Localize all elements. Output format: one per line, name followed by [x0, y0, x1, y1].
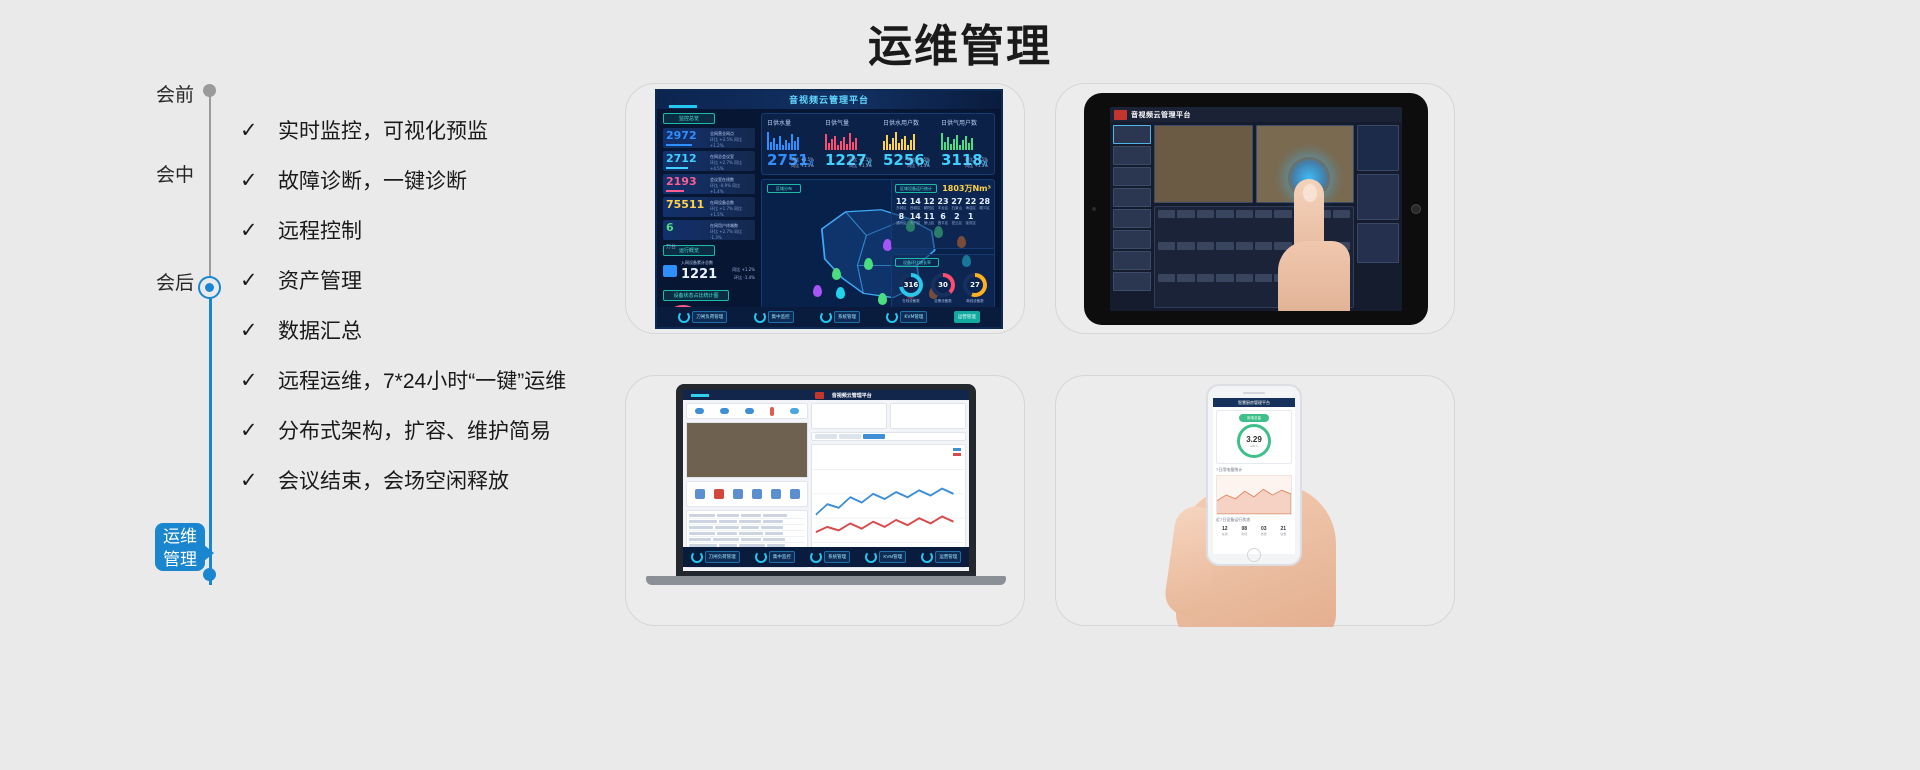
tab-bar[interactable] [811, 432, 966, 441]
thermometer-icon [770, 407, 774, 416]
region-cell: 28顺义区 [978, 197, 991, 211]
phone-stat-cell: 08离线 [1236, 526, 1254, 536]
timeline-line-upper [209, 90, 211, 285]
laptop-lid: 音视频云管理平台 [676, 384, 976, 580]
cloud-icon [720, 408, 729, 414]
phone-stat-grid: 12在线 08离线 03告警 21总数 [1213, 523, 1295, 539]
side-control-block[interactable] [1357, 174, 1399, 220]
phone-app-title: 智慧厨房管理平台 [1213, 398, 1295, 407]
ring-icon [921, 551, 933, 563]
dashboard-left-column: 监控总览 2972 万 全网营业网点 环比 +3.5% 同比 +1.2% 271… [663, 113, 755, 329]
slide-root: 运维管理 会前 会中 会后 运维 管理 ✓ 实时监控，可视化预监 ✓ 故障诊断，… [0, 0, 1920, 770]
status-badge: 用电总量 [1239, 414, 1269, 422]
brand-logo-icon [815, 392, 824, 399]
timeline-line-lower [209, 285, 212, 585]
stat-sub: 环比 +3.5% 同比 +1.2% [710, 137, 752, 149]
palm-graphic [1278, 241, 1350, 311]
gauge-ring: 27 [963, 273, 987, 297]
tablet-side-panel [1357, 125, 1399, 308]
stat-unit: 万台 [666, 244, 676, 250]
kpi-label: 日供水量 [767, 118, 815, 127]
video-tile[interactable] [1154, 125, 1253, 203]
region-stat-total: 1803万Nm³ [942, 183, 991, 194]
laptop-app-bar: 音视频云管理平台 [683, 390, 969, 400]
footer-nav-item[interactable]: 刀闸负荷管理 [678, 311, 727, 323]
list-item[interactable] [1113, 125, 1151, 144]
dashboard-title: 音视频云管理平台 [657, 93, 1001, 106]
kpi-deltas: 环比 +2.5%同比 +1.5% [907, 157, 930, 169]
brand-logo-icon [1114, 110, 1127, 120]
timeline-marker-active[interactable] [198, 276, 221, 299]
kpi-card: 日供水用户数 5256万户 环比 +2.5%同比 +1.5% [878, 114, 936, 174]
mic-icon[interactable] [752, 489, 762, 499]
kpi-deltas: 环比 +2.5%同比 +1.5% [849, 157, 872, 169]
list-item-label: 实时监控，可视化预监 [278, 115, 488, 145]
laptop-left-column [686, 403, 808, 568]
area-chart-svg [1217, 476, 1291, 514]
phone-area-chart [1216, 475, 1292, 515]
map-preview[interactable] [1357, 125, 1399, 171]
tab-device-inspection[interactable] [839, 434, 861, 439]
map-pin[interactable] [813, 285, 822, 297]
list-item[interactable] [1113, 146, 1151, 165]
footer-nav-item-active[interactable]: 运营管理 [954, 311, 980, 323]
home-button[interactable] [1411, 204, 1421, 214]
feature-checklist: ✓ 实时监控，可视化预监 ✓ 故障诊断，一键诊断 ✓ 远程控制 ✓ 资产管理 ✓… [240, 105, 660, 505]
dashboard-screen: 音视频云管理平台 监控总览 2972 万 全网营业网点 环比 +3.5% 同比 … [655, 89, 1003, 329]
gauge-label: 离线设备数 [962, 299, 988, 304]
kpi-card: 日供气用户数 3118万户 环比 +2.5%同比 +1.5% [936, 114, 994, 174]
footer-nav-item[interactable]: KVM管理 [865, 551, 906, 563]
timeline-badge-ops[interactable]: 运维 管理 [155, 523, 205, 571]
laptop-footer-nav: 刀闸负荷管理 集中监控 系统管理 KVM管理 运营管理 [683, 547, 969, 567]
kpi-label: 日供水用户数 [883, 118, 931, 127]
list-item: ✓ 资产管理 [240, 255, 660, 305]
metric-unit: kW·h [1251, 444, 1258, 448]
footer-nav-item[interactable]: 刀闸负荷管理 [691, 551, 740, 563]
region-stat-pill: 区域设备运行统计 [895, 184, 937, 193]
tablet-screen: 音视频云管理平台 [1110, 107, 1402, 311]
region-stat-table: 区域设备运行统计 1803万Nm³ 12东城区 14西城区 12朝阳区 23丰台… [891, 179, 995, 249]
factory-icon [663, 265, 677, 277]
laptop-right-column [811, 403, 966, 568]
list-item-label: 数据汇总 [278, 315, 362, 345]
list-item[interactable] [1113, 230, 1151, 249]
region-cell: 23丰台区 [937, 197, 950, 211]
dashboard-accent-bar [669, 105, 697, 108]
list-item[interactable] [1113, 188, 1151, 207]
list-item-label: 远程运维，7*24小时“一键”运维 [278, 365, 566, 395]
gauge-panel-pill: 设备环比增长率 [895, 258, 939, 267]
gauge: 27 离线设备数 [962, 273, 988, 304]
ring-icon [691, 551, 703, 563]
kpi-sparkline [941, 130, 989, 150]
map-pin[interactable] [878, 293, 887, 305]
kpi-sparkline [767, 130, 815, 150]
region-cell: 8通州区 [895, 212, 908, 226]
list-item: ✓ 故障诊断，一键诊断 [240, 155, 660, 205]
timeline-dot-top [203, 84, 216, 97]
timeline-stage-before: 会前 [156, 80, 194, 107]
metric-value: 3.29 [1246, 435, 1262, 444]
quick-action-icons[interactable] [686, 481, 808, 507]
tablet-body [1110, 122, 1402, 311]
power-icon[interactable] [790, 489, 800, 499]
gauge-row: 316 在线设备数 30 告警设备数 27 离线设备数 [895, 273, 991, 304]
kpi-card: 日供水量 2751万吨 环比 +3.5%同比 +1.5% [762, 114, 820, 174]
camera-icon [1092, 207, 1096, 211]
dashboard-footer-nav: 刀闸负荷管理 集中监控 系统管理 KVM管理 运营管理 [657, 307, 1001, 327]
laptop-app-title: 音视频云管理平台 [832, 392, 872, 399]
kpi-label: 日供气量 [825, 118, 873, 127]
sub-stat-value: 1221 [681, 267, 717, 282]
venue-thumbnail-list[interactable] [1113, 125, 1151, 308]
sub-stat-name: 入网设备累计总数 [681, 260, 713, 266]
cloud-icon [695, 408, 704, 414]
device-card-laptop: 音视频云管理平台 [625, 375, 1025, 626]
stat-sub: 环比 +2.7% 同比 -1.3% [710, 229, 752, 241]
kpi-sparkline [825, 130, 873, 150]
laptop-base [646, 576, 1006, 585]
region-cell: 11房山区 [923, 212, 936, 226]
region-cell: 12东城区 [895, 197, 908, 211]
phone-metric-card: 用电总量 3.29 kW·h [1216, 410, 1292, 464]
list-item: ✓ 实时监控，可视化预监 [240, 105, 660, 155]
tablet-app-bar: 音视频云管理平台 [1110, 107, 1402, 122]
map-pill-label: 区域分布 [767, 184, 801, 193]
ring-icon [810, 551, 822, 563]
ring-icon [754, 311, 766, 323]
summary-card-row [811, 403, 966, 429]
device-card-phone: 智慧厨房管理平台 用电总量 3.29 kW·h 7日用电量统计 [1055, 375, 1455, 626]
gauge-ring: 316 [899, 273, 923, 297]
tab-data-statistics[interactable] [863, 434, 885, 439]
search-icon[interactable] [695, 489, 705, 499]
list-item-label: 会议结束，会场空闲释放 [278, 465, 509, 495]
kpi-row: 日供水量 2751万吨 环比 +3.5%同比 +1.5% 日供气量 1227万方 [761, 113, 995, 175]
gauge-value: 30 [935, 277, 951, 293]
page-title: 运维管理 [0, 10, 1920, 74]
map-pin[interactable] [832, 268, 841, 280]
stat-card: 2193 万 会议室在线数 环比 -0.9% 同比 +1.4% [663, 174, 755, 194]
kpi-label: 日供气用户数 [941, 118, 989, 127]
hand-pointing-graphic [1278, 179, 1350, 311]
phone-stat-cell: 12在线 [1216, 526, 1234, 536]
stat-card: 2972 万 全网营业网点 环比 +3.5% 同比 +1.2% [663, 128, 755, 148]
home-button[interactable] [1247, 548, 1261, 562]
ring-icon [820, 311, 832, 323]
region-cell: 2密云区 [950, 212, 963, 226]
legend-swatch-series-2 [953, 453, 961, 456]
summary-card [811, 403, 887, 429]
region-cell: 27石景山 [950, 197, 963, 211]
gauge-label: 在线设备数 [898, 299, 924, 304]
record-icon[interactable] [714, 489, 724, 499]
stat-sub: 环比 +2.7% 同比 +4.5% [710, 160, 752, 172]
timeline-badge-line1: 运维 [155, 525, 205, 548]
list-item[interactable] [1113, 272, 1151, 291]
stat-sub: 环比 +1.7% 同比 +1.5% [710, 206, 752, 218]
metric-ring: 3.29 kW·h [1237, 424, 1271, 458]
list-item-label: 分布式架构，扩容、维护简易 [278, 415, 551, 445]
footer-nav-item[interactable]: 系统管理 [820, 311, 860, 323]
laptop-screen: 音视频云管理平台 [683, 390, 969, 571]
accent-bar [691, 394, 709, 397]
phone-frame: 智慧厨房管理平台 用电总量 3.29 kW·h 7日用电量统计 [1206, 384, 1302, 566]
section-pill-overview: 监控总览 [663, 113, 715, 124]
list-item: ✓ 远程控制 [240, 205, 660, 255]
timeline-badge-line2: 管理 [155, 548, 205, 571]
region-cell: 12朝阳区 [923, 197, 936, 211]
kpi-deltas: 环比 +2.5%同比 +1.5% [965, 157, 988, 169]
list-item[interactable] [1113, 251, 1151, 270]
fingernail-graphic [1303, 184, 1317, 202]
device-card-tablet: 音视频云管理平台 [1055, 83, 1455, 334]
stat-card: 2712 万 在网总会议室 环比 +2.7% 同比 +4.5% [663, 151, 755, 171]
list-item: ✓ 会议结束，会场空闲释放 [240, 455, 660, 505]
cloud-icon [745, 408, 754, 414]
phone-section-label: 7日用电量统计 [1213, 467, 1295, 473]
region-cell: 14大兴区 [909, 212, 922, 226]
map-pin[interactable] [864, 258, 873, 270]
weather-strip [686, 403, 808, 419]
kpi-deltas: 环比 +3.5%同比 +1.5% [791, 157, 814, 169]
legend-swatch-series-1 [953, 448, 961, 451]
footer-nav-item[interactable]: 运营管理 [921, 551, 961, 563]
region-stat-header: 区域设备运行统计 1803万Nm³ [895, 183, 991, 194]
speaker-icon [1243, 392, 1265, 394]
laptop-frame: 音视频云管理平台 [646, 384, 1006, 619]
gauge-value: 27 [967, 277, 983, 293]
gauge-ring: 30 [931, 273, 955, 297]
kpi-card: 日供气量 1227万方 环比 +2.5%同比 +1.5% [820, 114, 878, 174]
region-cell: 14西城区 [909, 197, 922, 211]
phone-scene: 智慧厨房管理平台 用电总量 3.29 kW·h 7日用电量统计 [1056, 376, 1456, 627]
section-pill-donut: 设备状态占比统计图 [663, 290, 729, 301]
check-icon: ✓ [240, 468, 278, 493]
camera-icon[interactable] [733, 489, 743, 499]
list-item: ✓ 数据汇总 [240, 305, 660, 355]
humidity-icon [790, 408, 799, 414]
ring-icon [865, 551, 877, 563]
region-cell: 22海淀区 [964, 197, 977, 211]
stat-sub: 环比 -0.9% 同比 +1.4% [710, 183, 752, 195]
gauge: 316 在线设备数 [898, 273, 924, 304]
list-item-label: 故障诊断，一键诊断 [278, 165, 467, 195]
footer-nav-item[interactable]: 集中监控 [755, 551, 795, 563]
gauge: 30 告警设备数 [930, 273, 956, 304]
check-icon: ✓ [240, 168, 278, 193]
dashboard-header: 音视频云管理平台 [657, 91, 1001, 109]
device-card-monitor: 音视频云管理平台 监控总览 2972 万 全网营业网点 环比 +3.5% 同比 … [625, 83, 1025, 334]
sub-stat-r2: 环比 -1.4% [734, 275, 755, 281]
list-item-label: 远程控制 [278, 215, 362, 245]
ring-icon [886, 311, 898, 323]
region-cell: 6昌平区 [937, 212, 950, 226]
region-cell: 1延庆区 [964, 212, 977, 226]
list-item[interactable] [1113, 167, 1151, 186]
timeline-stage-after: 会后 [156, 268, 194, 295]
check-icon: ✓ [240, 218, 278, 243]
list-item-label: 资产管理 [278, 265, 362, 295]
check-icon: ✓ [240, 118, 278, 143]
kpi-sparkline [883, 130, 931, 150]
stat-card: 6 万台 在网用户终端数 环比 +2.7% 同比 -1.3% [663, 220, 755, 240]
region-stat-grid: 12东城区 14西城区 12朝阳区 23丰台区 27石景山 22海淀区 28顺义… [895, 197, 991, 226]
timeline-stage-during: 会中 [156, 160, 194, 187]
check-icon: ✓ [240, 268, 278, 293]
stat-bar [666, 190, 684, 192]
ring-icon [678, 311, 690, 323]
side-control-block[interactable] [1357, 223, 1399, 263]
check-icon: ✓ [240, 318, 278, 343]
ring-icon [755, 551, 767, 563]
footer-nav-item[interactable]: KVM管理 [886, 311, 927, 323]
list-item: ✓ 分布式架构，扩容、维护简易 [240, 405, 660, 455]
check-icon: ✓ [240, 368, 278, 393]
sub-stat-r1: 同比 +1.2% [732, 267, 755, 273]
check-icon: ✓ [240, 418, 278, 443]
tab-device-overview[interactable] [815, 434, 837, 439]
chart-icon[interactable] [771, 489, 781, 499]
gauge-label: 告警设备数 [930, 299, 956, 304]
summary-card [890, 403, 966, 429]
list-item[interactable] [1113, 209, 1151, 228]
gauge-value: 316 [903, 277, 919, 293]
list-item: ✓ 远程运维，7*24小时“一键”运维 [240, 355, 660, 405]
sub-stat-card: 入网设备累计总数 1221 同比 +1.2% 环比 -1.4% [663, 260, 755, 286]
stat-card: 75511 台 在网设备总数 环比 +1.7% 同比 +1.5% [663, 197, 755, 217]
venue-photo [686, 422, 808, 478]
footer-nav-item[interactable]: 系统管理 [810, 551, 850, 563]
tablet-app-title: 音视频云管理平台 [1131, 110, 1191, 120]
footer-nav-item[interactable]: 集中监控 [754, 311, 794, 323]
stat-bar [666, 167, 688, 169]
phone-screen: 智慧厨房管理平台 用电总量 3.29 kW·h 7日用电量统计 [1213, 398, 1295, 554]
laptop-body [683, 400, 969, 571]
stat-bar [666, 144, 692, 146]
tablet-frame: 音视频云管理平台 [1084, 93, 1428, 325]
phone-stat-cell: 03告警 [1255, 526, 1273, 536]
phone-stat-cell: 21总数 [1275, 526, 1293, 536]
